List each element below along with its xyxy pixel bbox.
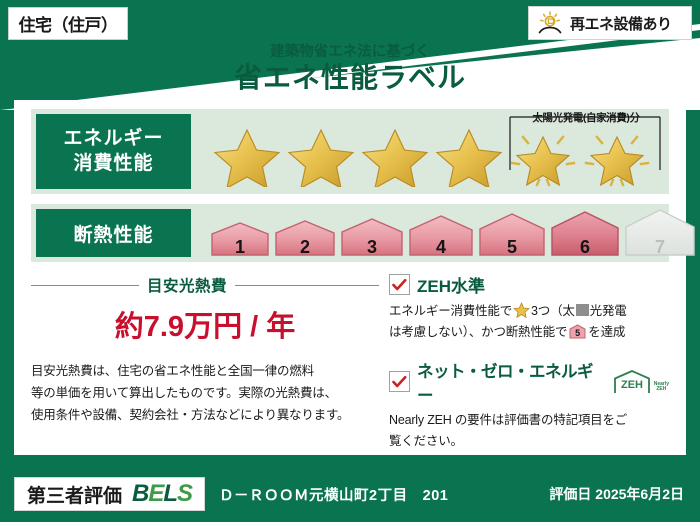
zeh-body-part-e: を達成	[588, 325, 625, 339]
check-icon	[392, 376, 407, 388]
zeh-standard-title: ZEH水準	[417, 272, 485, 297]
renewable-badge-label: 再エネ設備あり	[570, 13, 672, 34]
label-subtitle: 建築物省エネ法に基づく	[0, 40, 700, 61]
net-zero-energy-body: Nearly ZEH の要件は評価書の特記項目をご 覧ください。	[389, 410, 669, 453]
net-zero-energy-body-line2: 覧ください。	[389, 431, 669, 452]
zeh-standard-checkbox	[389, 274, 410, 295]
net-zero-energy-block: ネット・ゼロ・エネルギー ZEH Nearly ZEH	[389, 358, 669, 453]
divider-left	[31, 285, 139, 286]
house-level-number: 1	[209, 237, 271, 258]
zeh-section: ZEH水準 エネルギー消費性能で3つ（太光発電は考慮しない）、かつ断熱性能で5を…	[379, 272, 669, 444]
redacted-character	[576, 304, 589, 316]
house-cell: 5	[477, 212, 547, 262]
main-panel: エネルギー 消費性能 太陽光発電(自家消費)分	[14, 100, 686, 455]
star-cell-solar	[507, 127, 579, 187]
star-icon	[433, 127, 505, 187]
utility-cost-heading: 目安光熱費	[31, 274, 379, 296]
zeh-body-part-a: エネルギー消費性能で	[389, 304, 512, 318]
third-party-eval-label: 第三者評価	[27, 481, 122, 508]
star-icon-inline	[513, 302, 530, 318]
net-zero-energy-title: ネット・ゼロ・エネルギー	[417, 358, 604, 406]
house-level-number: 2	[273, 237, 337, 258]
zeh-logo-sub-line2: ZEH	[656, 386, 666, 392]
zeh-standard-block: ZEH水準 エネルギー消費性能で3つ（太光発電は考慮しない）、かつ断熱性能で5を…	[389, 272, 669, 344]
utility-cost-note: 目安光熱費は、住宅の省エネ性能と全国一律の燃料 等の単価を用いて算出したものです…	[31, 361, 379, 427]
star-icon	[359, 127, 431, 187]
svg-text:5: 5	[575, 328, 580, 338]
star-cell	[211, 127, 283, 187]
category-tag: 住宅（住戸）	[8, 7, 128, 40]
energy-performance-row: エネルギー 消費性能 太陽光発電(自家消費)分	[31, 109, 669, 194]
zeh-body-part-b: 3つ（太	[531, 304, 575, 318]
zeh-logo-subtext: Nearly ZEH	[654, 382, 669, 395]
energy-performance-label: 住宅（住戸） 再エネ設備あり 建築物省エネ法に基づく 省エネ性能ラベル エネルギ…	[0, 0, 700, 522]
footer: 第三者評価 BELS Ｄ－ＲＯＯＭ元横山町2丁目 201 評価日 2025年6月…	[0, 466, 700, 522]
zeh-logo: ZEH Nearly ZEH	[611, 369, 669, 395]
bels-logo: BELS	[132, 480, 192, 508]
lower-section: 目安光熱費 約7.9万円 / 年 目安光熱費は、住宅の省エネ性能と全国一律の燃料…	[31, 272, 669, 444]
divider-right	[235, 285, 379, 286]
houses-area: 1 2 3	[191, 204, 669, 262]
house-cell: 4	[407, 214, 475, 262]
property-name: Ｄ－ＲＯＯＭ元横山町2丁目 201	[219, 484, 448, 505]
star-icon	[285, 127, 357, 187]
star-cell	[285, 127, 357, 187]
zeh-body-part-c: 光発電	[590, 304, 627, 318]
star-icon-solar	[581, 127, 653, 187]
utility-cost-value: 約7.9万円 / 年	[31, 303, 379, 345]
energy-performance-label-line1: エネルギー	[63, 127, 163, 152]
renewable-energy-badge: 再エネ設備あり	[528, 6, 692, 40]
insulation-performance-row: 断熱性能	[31, 204, 669, 262]
insulation-performance-label: 断熱性能	[73, 220, 153, 247]
label-title-block: 建築物省エネ法に基づく 省エネ性能ラベル	[0, 40, 700, 93]
energy-performance-label-box: エネルギー 消費性能	[36, 114, 191, 189]
zeh-body-part-d: は考慮しない）、かつ断熱性能で	[389, 325, 567, 339]
house-cell: 3	[339, 217, 405, 262]
evaluation-date: 評価日 2025年6月2日	[549, 484, 684, 504]
utility-cost-note-line2: 等の単価を用いて算出したものです。実際の光熱費は、	[31, 383, 379, 405]
star-icon	[211, 127, 283, 187]
star-cell-solar	[581, 127, 653, 187]
house-level-number: 7	[623, 237, 697, 258]
stars-row	[211, 127, 653, 187]
insulation-performance-label-box: 断熱性能	[36, 209, 191, 257]
house-cell-achieved: 6	[549, 210, 621, 262]
category-tag-label: 住宅（住戸）	[19, 11, 118, 36]
house-level-number: 4	[407, 237, 475, 258]
utility-cost-note-line1: 目安光熱費は、住宅の省エネ性能と全国一律の燃料	[31, 361, 379, 383]
check-icon	[392, 279, 407, 291]
utility-cost-note-line3: 使用条件や設備、契約会社・方法などにより異なります。	[31, 405, 379, 427]
solar-caption: 太陽光発電(自家消費)分	[498, 110, 674, 125]
house-icon-inline: 5	[569, 324, 586, 339]
utility-cost-heading-label: 目安光熱費	[147, 274, 227, 296]
zeh-standard-body: エネルギー消費性能で3つ（太光発電は考慮しない）、かつ断熱性能で5を達成	[389, 301, 669, 344]
house-level-number: 3	[339, 237, 405, 258]
utility-cost-block: 目安光熱費 約7.9万円 / 年 目安光熱費は、住宅の省エネ性能と全国一律の燃料…	[31, 272, 379, 444]
net-zero-energy-heading: ネット・ゼロ・エネルギー ZEH Nearly ZEH	[389, 358, 669, 406]
houses-row: 1 2 3	[209, 208, 697, 262]
house-level-number: 5	[477, 237, 547, 258]
label-title: 省エネ性能ラベル	[0, 63, 700, 93]
star-cell	[433, 127, 505, 187]
svg-text:ZEH: ZEH	[621, 379, 643, 391]
house-level-number: 6	[549, 237, 621, 258]
bels-certification-plate: 第三者評価 BELS	[14, 477, 205, 511]
house-cell: 2	[273, 219, 337, 262]
star-cell	[359, 127, 431, 187]
solar-sun-icon	[537, 11, 563, 35]
house-cell-inactive: 7	[623, 208, 697, 262]
net-zero-energy-body-line1: Nearly ZEH の要件は評価書の特記項目をご	[389, 410, 669, 431]
star-icon-solar	[507, 127, 579, 187]
net-zero-energy-checkbox	[389, 371, 410, 392]
zeh-house-logo-icon: ZEH	[611, 369, 653, 395]
zeh-standard-heading: ZEH水準	[389, 272, 669, 297]
stars-area: 太陽光発電(自家消費)分	[191, 109, 669, 194]
energy-performance-label-line2: 消費性能	[73, 152, 153, 177]
house-cell: 1	[209, 221, 271, 262]
